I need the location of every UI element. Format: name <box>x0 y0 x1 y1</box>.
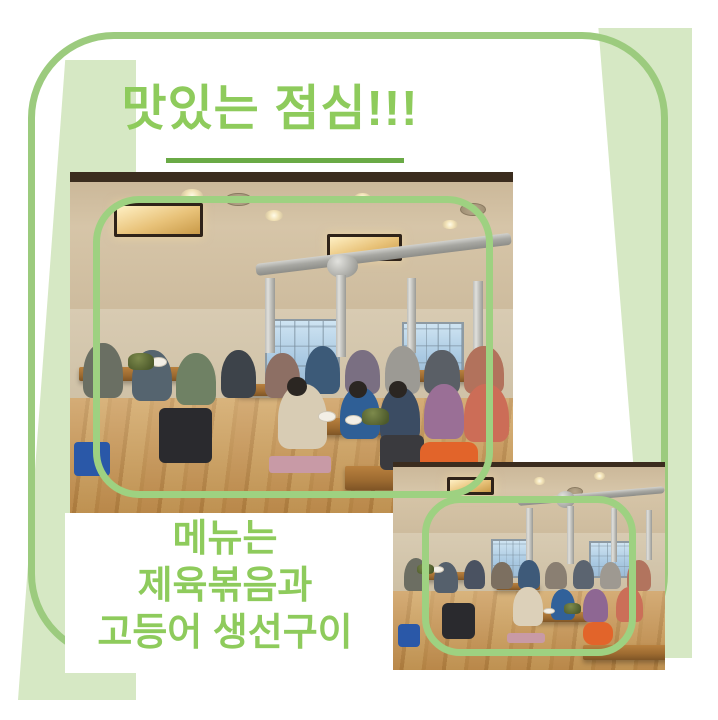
floor-cushion <box>269 456 331 473</box>
menu-caption: 메뉴는 제육볶음과 고등어 생선구이 <box>60 516 390 657</box>
stew-pot-inset-1 <box>417 564 433 574</box>
backpack-1 <box>159 408 212 463</box>
duct-column-inset-4 <box>646 510 652 560</box>
duct-column-4 <box>473 281 483 349</box>
seated-diner-inset-orange <box>616 587 643 622</box>
downlight-1 <box>181 189 203 203</box>
page-title: 맛있는 점심!!! <box>0 84 540 135</box>
downlight-inset-2 <box>594 472 605 479</box>
menu-caption-line-3: 고등어 생선구이 <box>60 610 390 657</box>
backpack-inset-1 <box>442 603 475 638</box>
diner-inset-6 <box>545 562 567 589</box>
stew-pot-inset-2 <box>564 603 580 613</box>
menu-caption-line-2: 제육볶음과 <box>60 563 390 610</box>
poster-canvas: 맛있는 점심!!! 메뉴는 제육볶음과 고등어 생선구이 <box>0 0 718 720</box>
seated-diner-inset-purple <box>583 589 607 622</box>
seated-diner-orange <box>464 384 508 442</box>
duct-column-2 <box>336 275 347 357</box>
diner-inset-7 <box>573 560 595 589</box>
ceiling-light-inset-1 <box>447 477 493 496</box>
floor-cushion-inset <box>507 633 545 643</box>
head-3 <box>389 381 407 398</box>
menu-caption-line-1: 메뉴는 <box>60 516 390 563</box>
ceiling-beam-inset <box>393 462 665 467</box>
orange-jacket-inset <box>583 622 613 645</box>
head-2 <box>349 381 367 398</box>
diner-inset-4 <box>491 562 513 589</box>
duct-column-1 <box>265 278 275 353</box>
ceiling-light-1 <box>114 203 203 237</box>
seated-diner-purple <box>424 384 464 439</box>
ceiling-vent-1 <box>225 193 252 207</box>
rice-bowl-2 <box>318 411 336 421</box>
stew-pot-1 <box>128 353 155 370</box>
blue-bag <box>74 442 109 476</box>
inset-photo <box>393 462 665 670</box>
diner-1 <box>83 343 123 398</box>
duct-column-inset-2 <box>567 506 574 564</box>
downlight-3 <box>354 193 372 203</box>
downlight-inset-1 <box>534 477 545 485</box>
stew-pot-2 <box>362 408 389 425</box>
rice-bowl-inset-2 <box>543 608 555 615</box>
diner-4 <box>221 350 256 398</box>
ceiling-beam <box>70 172 513 182</box>
duct-column-3 <box>407 278 417 353</box>
duct-column-inset-3 <box>611 508 618 562</box>
title-underline <box>166 158 404 163</box>
downlight-4 <box>442 220 458 230</box>
blue-bag-inset <box>398 624 420 647</box>
table-inset-foreground <box>583 645 665 660</box>
duct-column-inset-1 <box>526 508 533 562</box>
seated-diner-inset-beige <box>513 587 543 627</box>
downlight-2 <box>265 210 283 221</box>
diner-3 <box>176 353 216 404</box>
head-1 <box>287 377 306 396</box>
diner-inset-5 <box>518 560 540 589</box>
restaurant-scene-inset <box>393 462 665 670</box>
